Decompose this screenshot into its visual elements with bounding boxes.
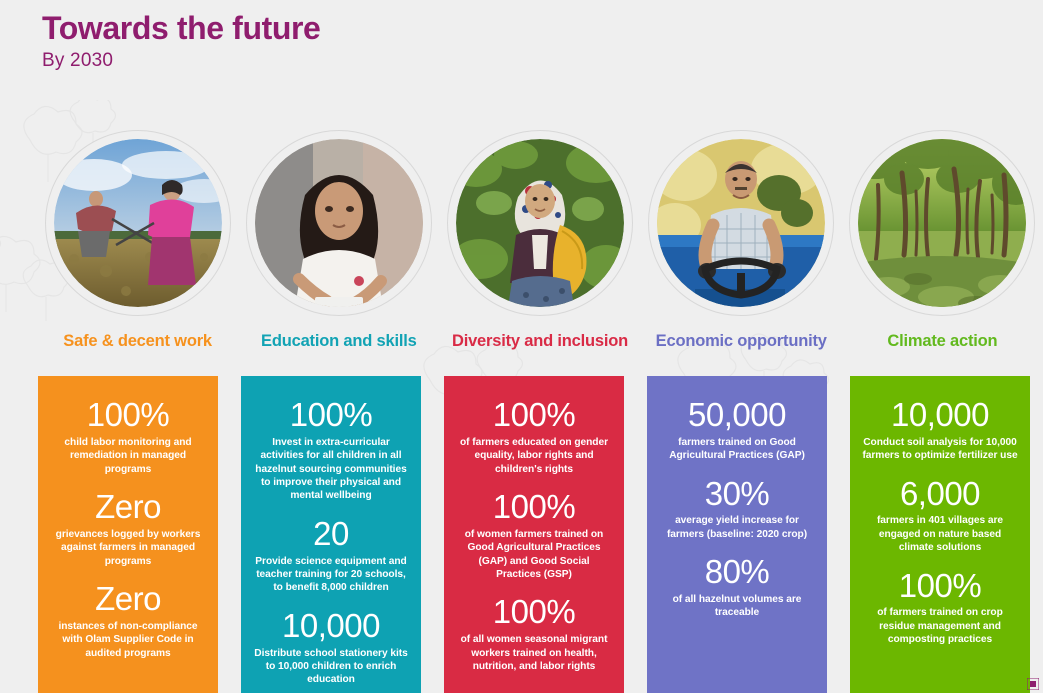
- stat-column-safe-decent-work: 100% child labor monitoring and remediat…: [38, 376, 218, 693]
- stat-number: 20: [253, 517, 409, 552]
- page-title: Towards the future: [42, 8, 320, 48]
- stat-description: of farmers trained on crop residue manag…: [862, 606, 1018, 646]
- stat-item: 100% of farmers educated on gender equal…: [456, 398, 612, 476]
- stat-column-economic-opportunity: 50,000 farmers trained on Good Agricultu…: [647, 376, 827, 693]
- stat-description: average yield increase for farmers (base…: [659, 514, 815, 541]
- stat-item: 100% of farmers trained on crop residue …: [862, 569, 1018, 647]
- stat-description: Conduct soil analysis for 10,000 farmers…: [862, 436, 1018, 463]
- pillar-row: Safe & decent work: [0, 130, 1043, 351]
- photo-ring-1: [45, 130, 231, 316]
- stat-number: 100%: [253, 398, 409, 433]
- stat-columns: 100% child labor monitoring and remediat…: [0, 376, 1043, 693]
- stat-item: 6,000 farmers in 401 villages are engage…: [862, 477, 1018, 555]
- stat-item: 50,000 farmers trained on Good Agricultu…: [659, 398, 815, 463]
- pillar-label-climate-action: Climate action: [842, 332, 1043, 351]
- stat-item: Zero instances of non-compliance with Ol…: [50, 582, 206, 660]
- pillar-climate-action: Climate action: [842, 130, 1043, 351]
- stat-item: 20 Provide science equipment and teacher…: [253, 517, 409, 595]
- stat-description: Distribute school stationery kits to 10,…: [253, 647, 409, 687]
- pillar-economic-opportunity: Economic opportunity: [641, 130, 842, 351]
- stat-description: Provide science equipment and teacher tr…: [253, 555, 409, 595]
- page-header: Towards the future By 2030: [42, 8, 320, 72]
- stat-number: 100%: [456, 490, 612, 525]
- stat-number: 6,000: [862, 477, 1018, 512]
- photo-girl-studying: [255, 139, 423, 307]
- photo-farmers-drying-hazelnuts: [54, 139, 222, 307]
- stat-column-education-and-skills: 100% Invest in extra-curricular activiti…: [241, 376, 421, 693]
- stat-number: 50,000: [659, 398, 815, 433]
- stat-number: 10,000: [253, 609, 409, 644]
- photo-ring-2: [246, 130, 432, 316]
- photo-ring-4: [648, 130, 834, 316]
- pillar-label-safe-decent-work: Safe & decent work: [37, 332, 238, 351]
- stat-item: 10,000 Conduct soil analysis for 10,000 …: [862, 398, 1018, 463]
- stat-description: of all hazelnut volumes are traceable: [659, 593, 815, 620]
- photo-woman-harvesting: [456, 139, 624, 307]
- stat-description: child labor monitoring and remediation i…: [50, 436, 206, 476]
- stat-number: 100%: [456, 595, 612, 630]
- stat-number: 30%: [659, 477, 815, 512]
- stat-number: 100%: [456, 398, 612, 433]
- pillar-label-economic-opportunity: Economic opportunity: [641, 332, 842, 351]
- stat-item: 80% of all hazelnut volumes are traceabl…: [659, 555, 815, 620]
- stat-item: 100% of women farmers trained on Good Ag…: [456, 490, 612, 581]
- photo-farmer-on-tractor: [657, 139, 825, 307]
- corner-registration-mark: [1027, 678, 1039, 690]
- stat-number: Zero: [50, 582, 206, 617]
- stat-item: 100% of all women seasonal migrant worke…: [456, 595, 612, 673]
- stat-description: farmers trained on Good Agricultural Pra…: [659, 436, 815, 463]
- stat-description: of all women seasonal migrant workers tr…: [456, 633, 612, 673]
- stat-description: instances of non-compliance with Olam Su…: [50, 620, 206, 660]
- photo-ring-3: [447, 130, 633, 316]
- pillar-safe-decent-work: Safe & decent work: [37, 130, 238, 351]
- stat-item: 100% child labor monitoring and remediat…: [50, 398, 206, 476]
- stat-number: 100%: [50, 398, 206, 433]
- stat-item: Zero grievances logged by workers agains…: [50, 490, 206, 568]
- stat-item: 30% average yield increase for farmers (…: [659, 477, 815, 542]
- photo-ring-5: [849, 130, 1035, 316]
- stat-description: grievances logged by workers against far…: [50, 528, 206, 568]
- page-subtitle: By 2030: [42, 50, 320, 72]
- photo-hazelnut-grove: [858, 139, 1026, 307]
- stat-item: 100% Invest in extra-curricular activiti…: [253, 398, 409, 503]
- stat-description: of women farmers trained on Good Agricul…: [456, 528, 612, 582]
- pillar-education-and-skills: Education and skills: [238, 130, 439, 351]
- stat-number: 100%: [862, 569, 1018, 604]
- stat-number: 80%: [659, 555, 815, 590]
- pillar-label-diversity-and-inclusion: Diversity and inclusion: [439, 332, 640, 351]
- pillar-diversity-and-inclusion: Diversity and inclusion: [439, 130, 640, 351]
- stat-item: 10,000 Distribute school stationery kits…: [253, 609, 409, 687]
- infographic-page: Towards the future By 2030: [0, 0, 1043, 693]
- pillar-label-education-and-skills: Education and skills: [238, 332, 439, 351]
- stat-description: Invest in extra-curricular activities fo…: [253, 436, 409, 503]
- stat-number: 10,000: [862, 398, 1018, 433]
- stat-description: farmers in 401 villages are engaged on n…: [862, 514, 1018, 554]
- stat-column-climate-action: 10,000 Conduct soil analysis for 10,000 …: [850, 376, 1030, 693]
- stat-number: Zero: [50, 490, 206, 525]
- stat-column-diversity-and-inclusion: 100% of farmers educated on gender equal…: [444, 376, 624, 693]
- stat-description: of farmers educated on gender equality, …: [456, 436, 612, 476]
